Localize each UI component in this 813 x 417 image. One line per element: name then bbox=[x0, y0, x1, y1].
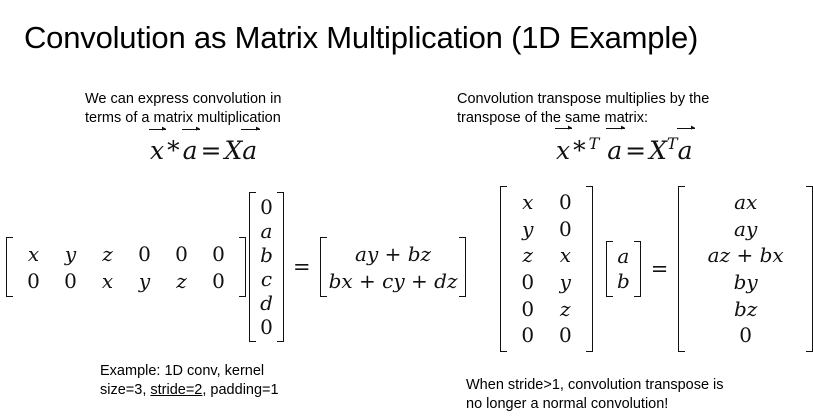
table-row: 0 0 x y z 0 bbox=[15, 267, 237, 294]
left-vector-bracket: 0 a b c d 0 bbox=[249, 192, 284, 342]
table-row: 0 y bbox=[509, 269, 584, 296]
left-eq-equals: = bbox=[198, 136, 225, 165]
left-equals-sign: = bbox=[284, 255, 320, 279]
right-matrix-B-bracket: x 0 y 0 z x 0 y 0 z bbox=[500, 186, 593, 352]
cell: x bbox=[547, 242, 585, 269]
right-result-bracket: ax ay az + bx by bz 0 bbox=[678, 186, 813, 352]
cell: x bbox=[15, 240, 52, 267]
cell: x bbox=[89, 267, 126, 294]
right-caption-line-2: no longer a normal convolution! bbox=[466, 395, 806, 414]
right-eq-matrix-superscript-t: T bbox=[667, 134, 678, 153]
table-row: 0 0 bbox=[509, 322, 584, 349]
left-matrix-equation: x y z 0 0 0 0 0 x y z 0 bbox=[6, 192, 466, 342]
cell: ax bbox=[687, 189, 804, 216]
cell: y bbox=[52, 240, 89, 267]
right-input-vector: a b bbox=[615, 244, 632, 294]
cell: 0 bbox=[509, 322, 547, 349]
table-row: 0 bbox=[258, 315, 275, 339]
left-matrix-A-bracket: x y z 0 0 0 0 0 x y z 0 bbox=[6, 237, 246, 297]
left-intro-line-1: We can express convolution in bbox=[85, 90, 385, 109]
right-eq-operator: * bbox=[570, 136, 589, 165]
right-vector-bracket: a b bbox=[606, 241, 641, 297]
cell: d bbox=[258, 291, 275, 315]
right-eq-vector-x: x bbox=[556, 136, 570, 165]
cell: 0 bbox=[15, 267, 52, 294]
right-eq-operator-superscript-t: T bbox=[589, 134, 600, 153]
left-result-vector: ay + bz bx + cy + dz bbox=[329, 240, 458, 294]
left-input-vector: 0 a b c d 0 bbox=[258, 195, 275, 339]
cell: b bbox=[258, 243, 275, 267]
cell: y bbox=[509, 216, 547, 243]
right-eq-rhs-vector-a: a bbox=[678, 136, 693, 165]
cell: b bbox=[615, 269, 632, 294]
right-intro-line-1: Convolution transpose multiplies by the bbox=[457, 90, 797, 109]
cell: az + bx bbox=[687, 242, 804, 269]
cell: ay bbox=[687, 216, 804, 243]
cell: by bbox=[687, 269, 804, 296]
cell: 0 bbox=[547, 189, 585, 216]
left-caption-prefix: size=3, bbox=[100, 382, 150, 398]
right-eq-equals: = bbox=[622, 136, 649, 165]
right-equals-sign: = bbox=[641, 257, 679, 281]
cell: 0 bbox=[200, 267, 237, 294]
left-eq-operator: * bbox=[164, 136, 183, 165]
cell: ay + bz bbox=[329, 240, 458, 267]
right-caption: When stride>1, convolution transpose is … bbox=[466, 376, 806, 414]
right-eq-vector-a: a bbox=[607, 136, 622, 165]
table-row: d bbox=[258, 291, 275, 315]
left-intro-line-2: terms of a matrix multiplication bbox=[85, 109, 385, 128]
right-intro-text: Convolution transpose multiplies by the … bbox=[457, 90, 797, 128]
left-result-bracket: ay + bz bx + cy + dz bbox=[320, 237, 467, 297]
left-matrix-A: x y z 0 0 0 0 0 x y z 0 bbox=[15, 240, 237, 294]
right-intro-line-2: transpose of the same matrix: bbox=[457, 109, 797, 128]
slide-canvas: Convolution as Matrix Multiplication (1D… bbox=[0, 0, 813, 417]
table-row: 0 bbox=[258, 195, 275, 219]
cell: 0 bbox=[258, 315, 275, 339]
cell: x bbox=[509, 189, 547, 216]
table-row: a bbox=[615, 244, 632, 269]
left-eq-matrix-symbol: X bbox=[224, 136, 242, 165]
left-eq-rhs-vector-a: a bbox=[242, 136, 257, 165]
table-row: x 0 bbox=[509, 189, 584, 216]
table-row: by bbox=[687, 269, 804, 296]
table-row: bx + cy + dz bbox=[329, 267, 458, 294]
cell: 0 bbox=[509, 269, 547, 296]
slide-title: Convolution as Matrix Multiplication (1D… bbox=[24, 18, 698, 58]
table-row: c bbox=[258, 267, 275, 291]
left-intro-text: We can express convolution in terms of a… bbox=[85, 90, 385, 128]
table-row: b bbox=[258, 243, 275, 267]
right-result-vector: ax ay az + bx by bz 0 bbox=[687, 189, 804, 349]
cell: a bbox=[258, 219, 275, 243]
table-row: a bbox=[258, 219, 275, 243]
cell: bz bbox=[687, 295, 804, 322]
left-caption-line-1: Example: 1D conv, kernel bbox=[100, 362, 400, 381]
table-row: 0 bbox=[687, 322, 804, 349]
table-row: ax bbox=[687, 189, 804, 216]
left-eq-vector-a: a bbox=[183, 136, 198, 165]
right-eq-matrix-symbol: X bbox=[649, 136, 667, 165]
cell: bx + cy + dz bbox=[329, 267, 458, 294]
table-row: z x bbox=[509, 242, 584, 269]
cell: 0 bbox=[687, 322, 804, 349]
cell: y bbox=[547, 269, 585, 296]
cell: 0 bbox=[258, 195, 275, 219]
cell: z bbox=[547, 295, 585, 322]
left-display-equation: x*a=Xa bbox=[150, 136, 257, 165]
right-display-equation: x*T a=XTa bbox=[556, 134, 692, 165]
cell: 0 bbox=[509, 295, 547, 322]
left-caption-stride: stride=2 bbox=[150, 382, 202, 398]
cell: 0 bbox=[52, 267, 89, 294]
left-caption: Example: 1D conv, kernel size=3, stride=… bbox=[100, 362, 400, 400]
cell: a bbox=[615, 244, 632, 269]
cell: 0 bbox=[200, 240, 237, 267]
cell: z bbox=[163, 267, 200, 294]
right-matrix-equation: x 0 y 0 z x 0 y 0 z bbox=[500, 186, 813, 352]
left-caption-suffix: , padding=1 bbox=[202, 382, 278, 398]
cell: 0 bbox=[126, 240, 163, 267]
table-row: x y z 0 0 0 bbox=[15, 240, 237, 267]
table-row: y 0 bbox=[509, 216, 584, 243]
right-caption-line-1: When stride>1, convolution transpose is bbox=[466, 376, 806, 395]
table-row: az + bx bbox=[687, 242, 804, 269]
left-eq-vector-x: x bbox=[150, 136, 164, 165]
table-row: ay bbox=[687, 216, 804, 243]
right-matrix-B: x 0 y 0 z x 0 y 0 z bbox=[509, 189, 584, 349]
table-row: b bbox=[615, 269, 632, 294]
cell: z bbox=[509, 242, 547, 269]
cell: 0 bbox=[547, 216, 585, 243]
cell: 0 bbox=[163, 240, 200, 267]
table-row: bz bbox=[687, 295, 804, 322]
table-row: ay + bz bbox=[329, 240, 458, 267]
cell: 0 bbox=[547, 322, 585, 349]
cell: y bbox=[126, 267, 163, 294]
cell: c bbox=[258, 267, 275, 291]
left-caption-line-2: size=3, stride=2, padding=1 bbox=[100, 381, 400, 400]
table-row: 0 z bbox=[509, 295, 584, 322]
cell: z bbox=[89, 240, 126, 267]
